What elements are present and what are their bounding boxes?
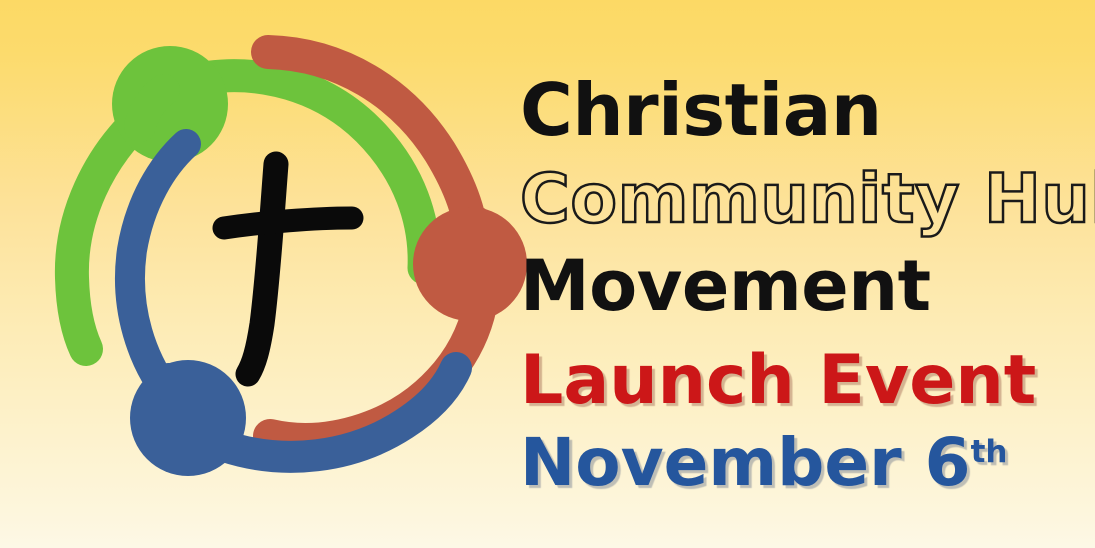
logo bbox=[28, 6, 528, 526]
red-person-icon bbox=[268, 52, 527, 440]
event-date-ordinal: th bbox=[971, 434, 1008, 470]
launch-event-heading: Launch Event bbox=[520, 341, 1036, 420]
event-date-text: November 6 bbox=[520, 424, 971, 501]
cross-icon bbox=[224, 164, 352, 374]
event-banner: Christian Community Hub Movement Launch … bbox=[0, 0, 1095, 548]
title-line-christian: Christian bbox=[520, 68, 882, 152]
title-line-movement: Movement bbox=[520, 245, 931, 327]
title-line-community-hub: Community Hub bbox=[520, 160, 1095, 239]
event-date: November 6th bbox=[520, 424, 1007, 501]
text-block: Christian Community Hub Movement Launch … bbox=[520, 0, 1095, 548]
logo-svg bbox=[28, 6, 528, 526]
